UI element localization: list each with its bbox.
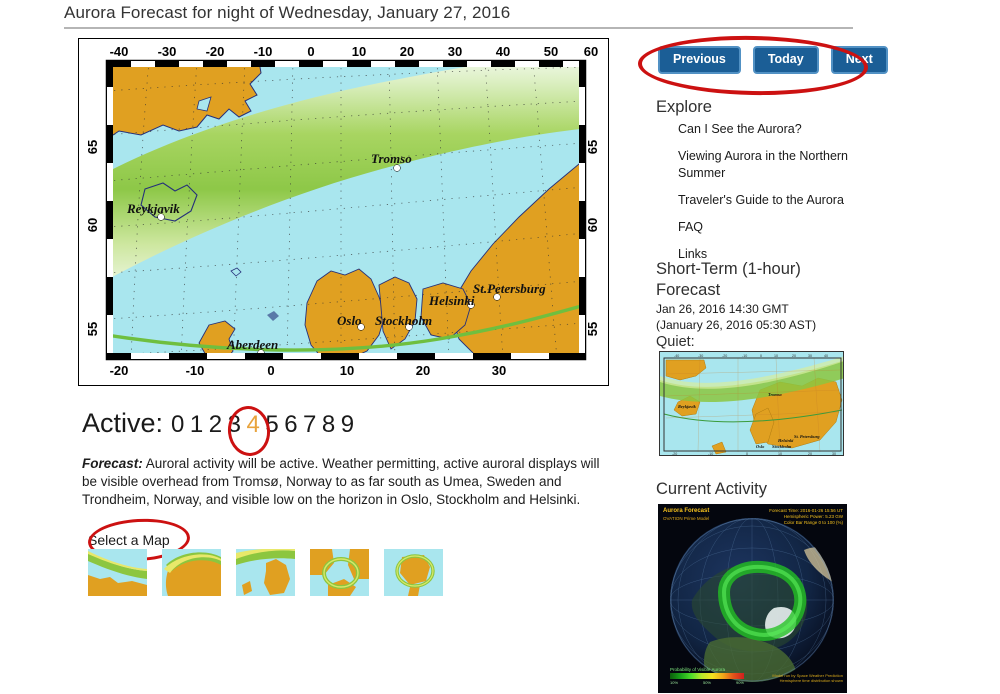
- forecast-paragraph: Forecast: Auroral activity will be activ…: [82, 455, 607, 509]
- svg-text:20: 20: [808, 452, 812, 456]
- digit-3: 3: [228, 411, 247, 438]
- legend-title: Probability of Visible Aurora: [670, 667, 744, 672]
- digit-6: 6: [284, 411, 303, 438]
- svg-text:60: 60: [85, 218, 100, 232]
- svg-text:55: 55: [85, 322, 100, 336]
- svg-text:Helsinki: Helsinki: [777, 438, 794, 443]
- svg-text:Oslo: Oslo: [756, 444, 765, 449]
- svg-text:-10: -10: [708, 452, 713, 456]
- globe-subtitle: OVATION Prime Model: [663, 516, 709, 521]
- map-thumb-north-america[interactable]: [88, 549, 147, 596]
- short-term-forecast-times: Jan 26, 2016 14:30 GMT (January 26, 2016…: [656, 301, 816, 333]
- svg-text:60: 60: [585, 218, 600, 232]
- svg-text:40: 40: [496, 44, 510, 59]
- legend-tick-labels: 10% 50% 90%: [670, 680, 744, 685]
- digit-0: 0: [171, 411, 190, 438]
- svg-text:-10: -10: [186, 363, 205, 378]
- map-thumb-europe[interactable]: [236, 549, 295, 596]
- globe-title: Aurora Forecast: [663, 508, 709, 514]
- svg-text:10: 10: [774, 354, 778, 358]
- aurora-map-graphic: Reykjavik Tromso St.Petersburg Helsinki …: [79, 39, 608, 385]
- short-term-level-label: Quiet:: [656, 334, 695, 350]
- svg-text:30: 30: [808, 354, 812, 358]
- svg-text:Aberdeen: Aberdeen: [226, 337, 278, 352]
- digit-1: 1: [190, 411, 209, 438]
- explore-link-faq[interactable]: FAQ: [678, 219, 863, 236]
- svg-text:-20: -20: [206, 44, 225, 59]
- short-term-forecast-map[interactable]: -40-30-20 -10010 203040 -20-100 102030 R…: [659, 351, 844, 456]
- explore-link-viewing-aurora-northern-summer[interactable]: Viewing Aurora in the Northern Summer: [678, 148, 863, 182]
- svg-text:30: 30: [448, 44, 462, 59]
- svg-text:20: 20: [416, 363, 430, 378]
- svg-text:10: 10: [778, 452, 782, 456]
- next-button[interactable]: Next: [831, 46, 888, 74]
- digit-4-current: 4: [246, 411, 265, 438]
- legend-tick-90: 90%: [736, 680, 744, 685]
- svg-text:Helsinki: Helsinki: [428, 293, 475, 308]
- svg-text:65: 65: [85, 140, 100, 154]
- short-term-forecast-heading: Short-Term (1-hour) Forecast: [656, 259, 836, 301]
- svg-text:40: 40: [824, 354, 828, 358]
- short-term-time-local: (January 26, 2016 05:30 AST): [656, 317, 816, 333]
- svg-text:50: 50: [544, 44, 558, 59]
- legend-tick-50: 50%: [703, 680, 711, 685]
- svg-text:-40: -40: [110, 44, 129, 59]
- svg-text:20: 20: [400, 44, 414, 59]
- svg-text:-20: -20: [672, 452, 677, 456]
- svg-text:10: 10: [340, 363, 354, 378]
- svg-text:-20: -20: [722, 354, 727, 358]
- explore-link-travelers-guide[interactable]: Traveler's Guide to the Aurora: [678, 192, 863, 209]
- globe-footer-note: Model run by Space Weather Prediction He…: [772, 673, 843, 683]
- svg-text:Tromso: Tromso: [768, 392, 783, 397]
- explore-link-can-i-see-the-aurora[interactable]: Can I See the Aurora?: [678, 121, 863, 138]
- title-divider: [64, 27, 853, 29]
- svg-text:Tromso: Tromso: [371, 151, 412, 166]
- map-thumb-polar-south[interactable]: [384, 549, 443, 596]
- select-a-map-label: Select a Map: [88, 532, 170, 548]
- date-nav-buttons: Previous Today Next: [658, 46, 888, 74]
- svg-text:Stockholm: Stockholm: [375, 313, 432, 328]
- svg-text:Reykjavik: Reykjavik: [678, 404, 697, 409]
- map-thumb-greenland[interactable]: [162, 549, 221, 596]
- svg-text:0: 0: [267, 363, 274, 378]
- svg-text:0: 0: [746, 452, 748, 456]
- activity-digits: 0123456789: [171, 411, 360, 439]
- aurora-map-panel[interactable]: Reykjavik Tromso St.Petersburg Helsinki …: [78, 38, 609, 386]
- svg-text:-40: -40: [674, 354, 679, 358]
- ovation-globe-graphic: [658, 504, 847, 693]
- svg-text:-30: -30: [158, 44, 177, 59]
- svg-text:St. Petersburg: St. Petersburg: [794, 434, 820, 439]
- explore-link-list: Can I See the Aurora? Viewing Aurora in …: [678, 121, 863, 273]
- activity-label: Active:: [82, 408, 163, 439]
- svg-text:St.Petersburg: St.Petersburg: [473, 281, 546, 296]
- map-thumb-polar-wide[interactable]: [310, 549, 369, 596]
- digit-8: 8: [322, 411, 341, 438]
- svg-text:20: 20: [792, 354, 796, 358]
- legend-colorbar: [670, 673, 744, 679]
- current-activity-heading: Current Activity: [656, 479, 767, 500]
- svg-text:-30: -30: [698, 354, 703, 358]
- svg-text:30: 30: [492, 363, 506, 378]
- forecast-lead: Forecast:: [82, 456, 143, 471]
- activity-scale: Active: 0123456789: [82, 408, 360, 439]
- globe-legend: Probability of Visible Aurora 10% 50% 90…: [670, 667, 744, 685]
- svg-text:0: 0: [307, 44, 314, 59]
- digit-9: 9: [341, 411, 360, 438]
- digit-7: 7: [303, 411, 322, 438]
- previous-button[interactable]: Previous: [658, 46, 741, 74]
- explore-heading: Explore: [656, 97, 712, 118]
- digit-2: 2: [209, 411, 228, 438]
- svg-text:-10: -10: [254, 44, 273, 59]
- svg-text:-20: -20: [110, 363, 129, 378]
- short-term-map-graphic: -40-30-20 -10010 203040 -20-100 102030 R…: [660, 352, 844, 456]
- svg-text:Stockholm: Stockholm: [772, 444, 792, 449]
- page-title: Aurora Forecast for night of Wednesday, …: [64, 3, 510, 23]
- svg-text:Reykjavik: Reykjavik: [126, 201, 180, 216]
- svg-text:-10: -10: [742, 354, 747, 358]
- current-activity-globe[interactable]: Aurora Forecast OVATION Prime Model Fore…: [658, 504, 847, 693]
- svg-text:10: 10: [352, 44, 366, 59]
- svg-text:Oslo: Oslo: [337, 313, 362, 328]
- digit-5: 5: [265, 411, 284, 438]
- svg-text:30: 30: [832, 452, 836, 456]
- svg-text:55: 55: [585, 322, 600, 336]
- globe-metadata: Forecast Time: 2016-01-26 15:56 UT Hemis…: [769, 508, 843, 526]
- svg-text:60: 60: [584, 44, 598, 59]
- svg-text:65: 65: [585, 140, 600, 154]
- today-button[interactable]: Today: [753, 46, 819, 74]
- map-thumbnail-row: [88, 549, 443, 596]
- forecast-body: Auroral activity will be active. Weather…: [82, 456, 599, 507]
- svg-text:0: 0: [760, 354, 762, 358]
- legend-tick-10: 10%: [670, 680, 678, 685]
- short-term-time-gmt: Jan 26, 2016 14:30 GMT: [656, 301, 816, 317]
